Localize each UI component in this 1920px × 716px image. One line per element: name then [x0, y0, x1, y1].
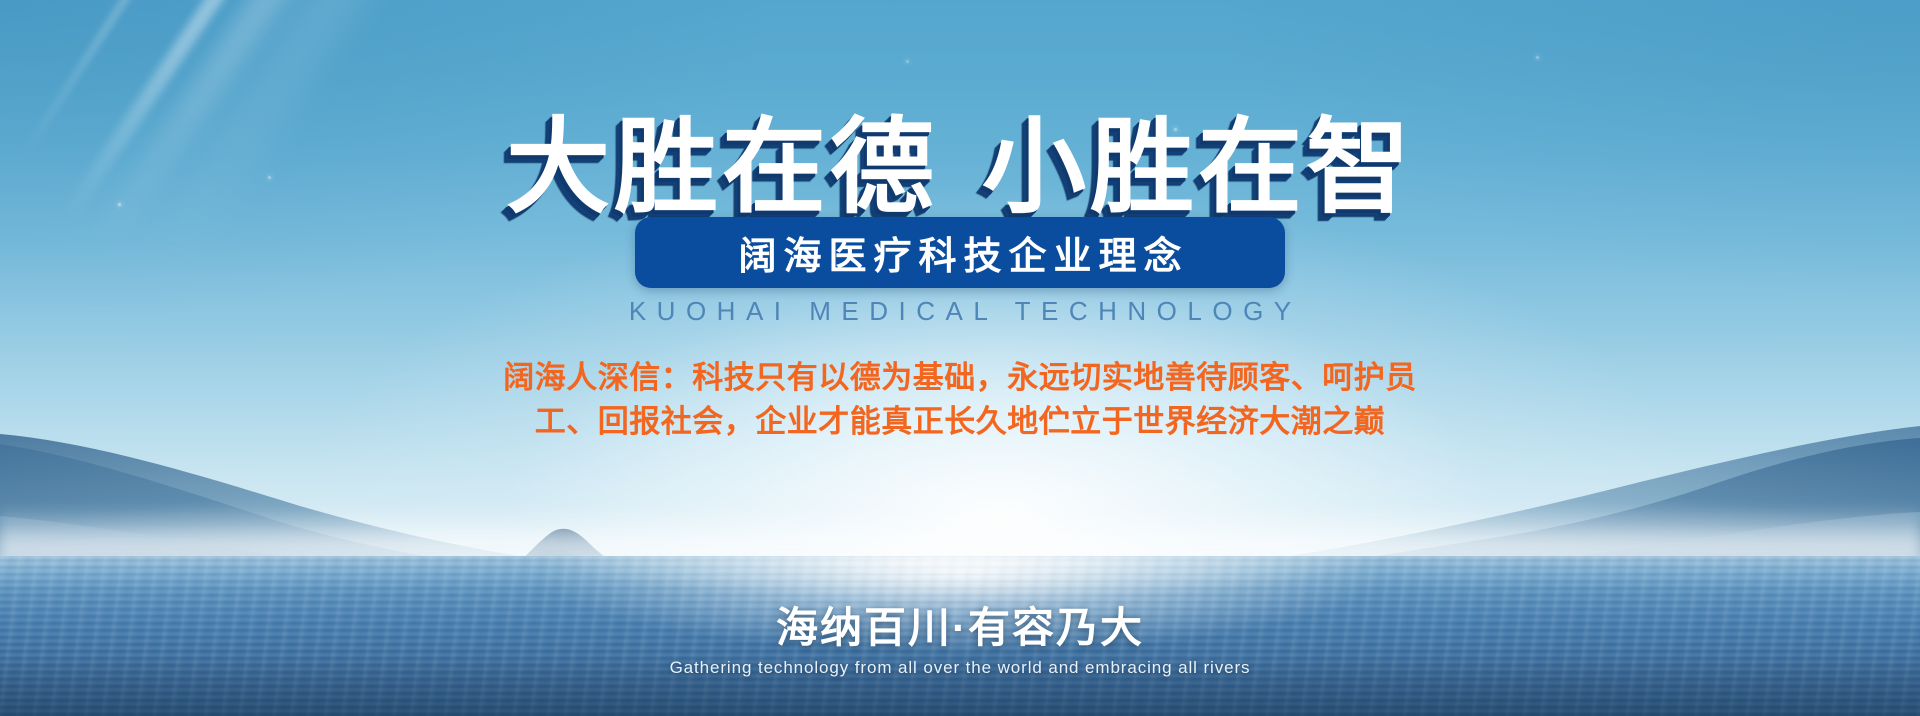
footer-slogan-chinese: 海纳百川·有容乃大 — [0, 604, 1920, 652]
kuohai-hero-banner: 大胜在德小胜在智 阔海医疗科技企业理念 KUOHAI MEDICAL TECHN… — [0, 0, 1920, 716]
statement-line-1: 阔海人深信：科技只有以德为基础，永远切实地善待顾客、呵护员 — [420, 356, 1500, 400]
main-title-left: 大胜在德 — [506, 110, 938, 226]
philosophy-badge: 阔海医疗科技企业理念 — [635, 217, 1285, 288]
statement-line-2: 工、回报社会，企业才能真正长久地伫立于世界经济大潮之巅 — [420, 400, 1500, 444]
english-subtitle: KUOHAI MEDICAL TECHNOLOGY — [0, 296, 1920, 327]
banner-content: 大胜在德小胜在智 阔海医疗科技企业理念 KUOHAI MEDICAL TECHN… — [0, 0, 1920, 716]
page-title: 大胜在德小胜在智 — [0, 116, 1920, 220]
main-title-right: 小胜在智 — [982, 110, 1414, 226]
footer-slogan-english: Gathering technology from all over the w… — [0, 658, 1920, 678]
footer-slogan: 海纳百川·有容乃大 Gathering technology from all … — [0, 604, 1920, 678]
philosophy-badge-label: 阔海医疗科技企业理念 — [731, 225, 1188, 280]
philosophy-statement: 阔海人深信：科技只有以德为基础，永远切实地善待顾客、呵护员 工、回报社会，企业才… — [420, 356, 1500, 444]
